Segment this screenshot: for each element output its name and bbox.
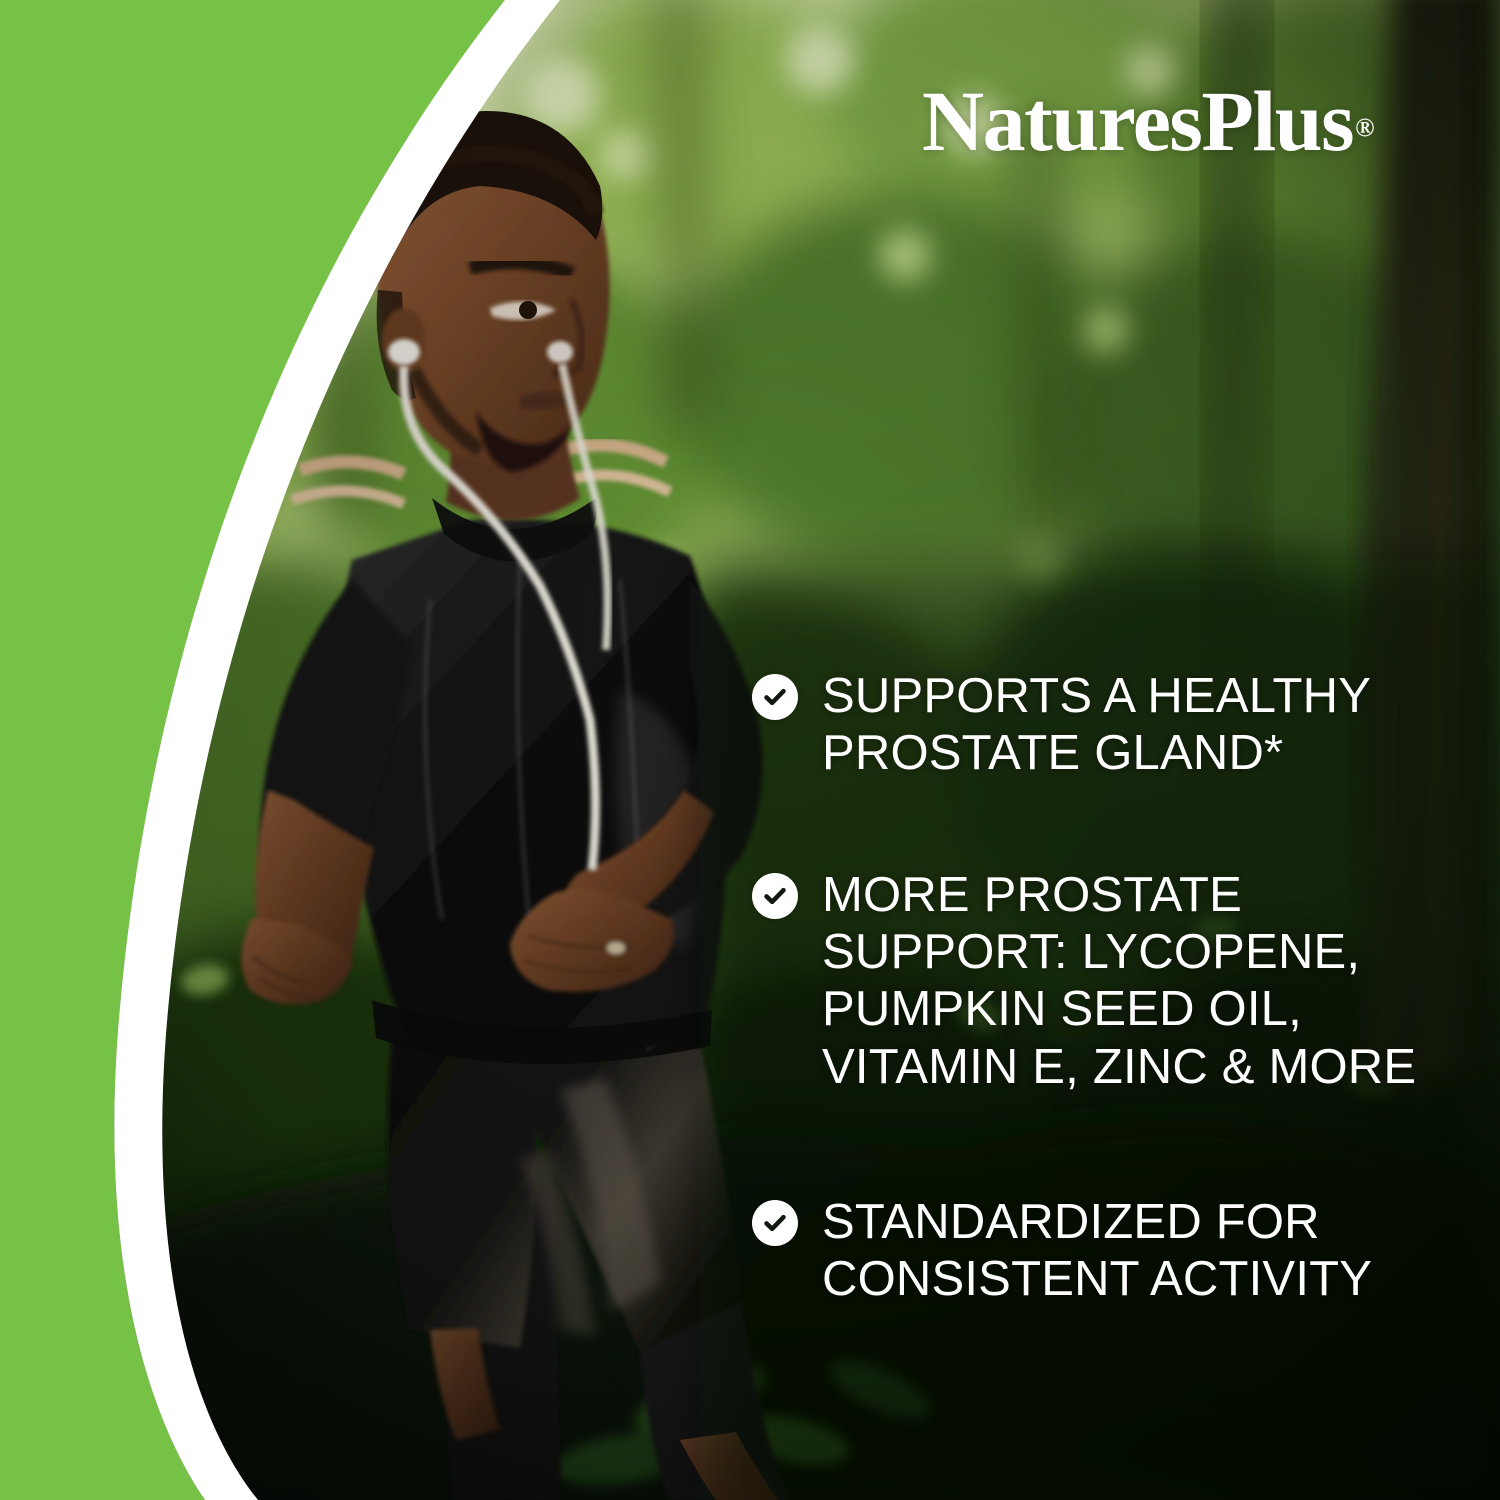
check-icon [752,873,798,919]
benefit-text-2: MORE PROSTATE SUPPORT: LYCOPENE, PUMPKIN… [822,867,1442,1096]
benefit-item-1: SUPPORTS A HEALTHY PROSTATE GLAND* [752,668,1442,783]
benefits-list: SUPPORTS A HEALTHY PROSTATE GLAND* MORE … [752,668,1442,1309]
benefit-item-2: MORE PROSTATE SUPPORT: LYCOPENE, PUMPKIN… [752,867,1442,1096]
benefit-text-1: SUPPORTS A HEALTHY PROSTATE GLAND* [822,668,1442,783]
brand-logo-text: NaturesPlus [922,73,1353,169]
check-icon [752,674,798,720]
check-icon [752,1200,798,1246]
brand-logo: NaturesPlus® [922,78,1442,164]
registered-trademark-icon: ® [1355,113,1374,142]
benefit-text-3: STANDARDIZED FOR CONSISTENT ACTIVITY [822,1194,1442,1309]
product-feature-banner: NaturesPlus® SUPPORTS A HEALTHY PROSTATE… [0,0,1500,1500]
benefit-item-3: STANDARDIZED FOR CONSISTENT ACTIVITY [752,1194,1442,1309]
